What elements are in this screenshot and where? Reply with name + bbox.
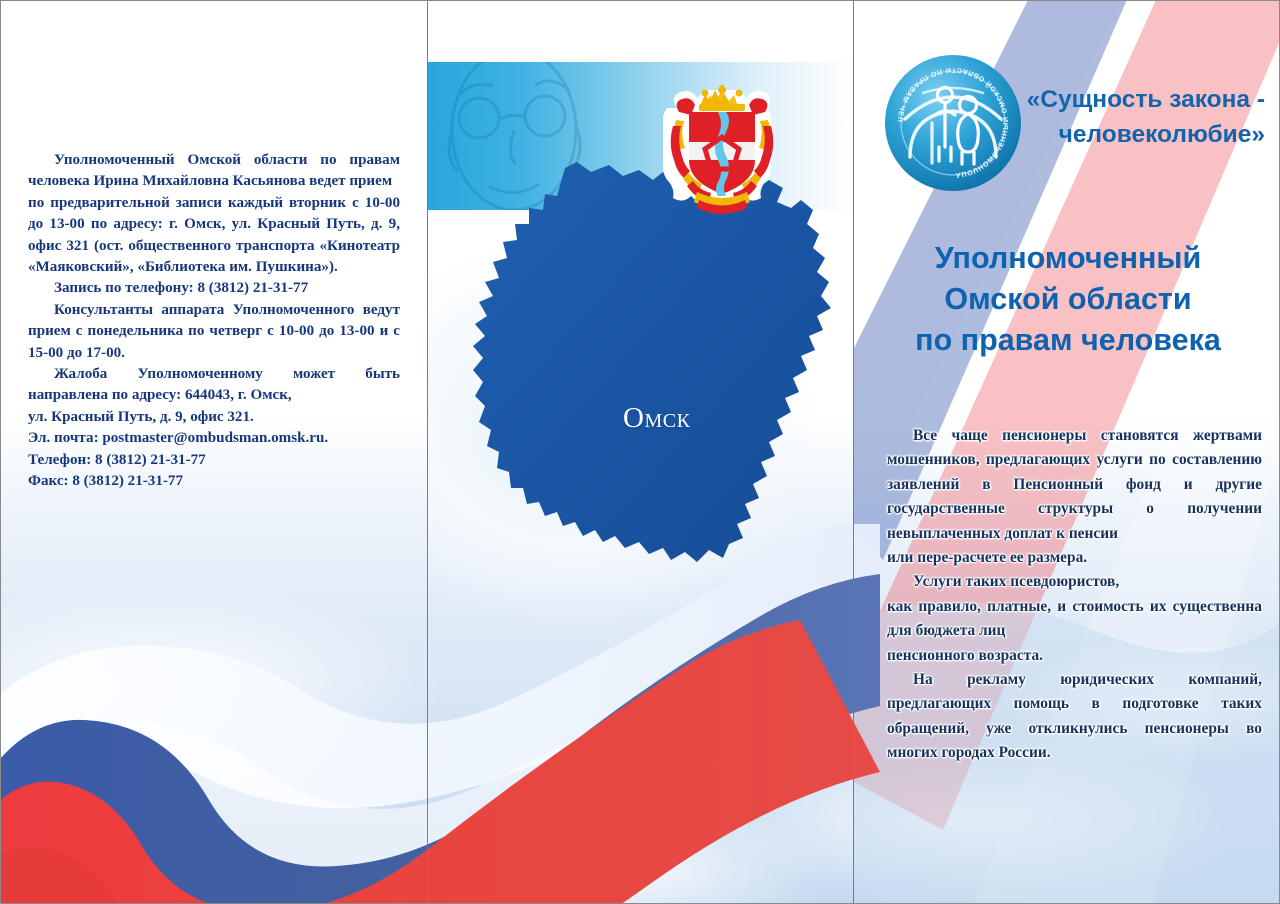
warning-text-block: Все чаще пенсионеры становятся жертвами … bbox=[887, 424, 1262, 766]
contact-paragraph: Уполномоченный Омской области по правам … bbox=[28, 150, 400, 193]
coat-of-arms bbox=[663, 82, 781, 224]
warning-paragraph: Услуги таких псевдоюристов, bbox=[887, 570, 1262, 594]
contact-paragraph: ул. Красный Путь, д. 9, офис 321. bbox=[28, 407, 400, 428]
brochure-page: Уполномоченный Омской области по правам … bbox=[0, 0, 1280, 904]
contact-paragraph: Жалоба Уполномоченному может быть направ… bbox=[28, 364, 400, 407]
contact-paragraph: Телефон: 8 (3812) 21-31-77 bbox=[28, 450, 400, 471]
page-edge-top bbox=[0, 0, 1280, 1]
contact-paragraph: Запись по телефону: 8 (3812) 21-31-77 bbox=[28, 278, 400, 299]
page-edge-left bbox=[0, 0, 1, 904]
warning-paragraph: На рекламу юридических компаний, предлаг… bbox=[887, 668, 1262, 766]
contact-text-block: Уполномоченный Омской области по правам … bbox=[28, 150, 400, 493]
contact-paragraph: Эл. почта: postmaster@ombudsman.omsk.ru. bbox=[28, 428, 400, 449]
russian-flag-graphic bbox=[0, 524, 880, 904]
contact-paragraph: Консультанты аппарата Уполномоченного ве… bbox=[28, 300, 400, 364]
brochure-title-line: Уполномоченный bbox=[863, 238, 1273, 279]
contact-paragraph: Факс: 8 (3812) 21-31-77 bbox=[28, 471, 400, 492]
map-city-label: Омск bbox=[623, 402, 690, 435]
warning-paragraph: или пере-расчете ее размера. bbox=[887, 546, 1262, 570]
fold-line-right bbox=[853, 0, 854, 904]
warning-paragraph: как правило, платные, и стоимость их сущ… bbox=[887, 595, 1262, 644]
contact-paragraph: по предварительной записи каждый вторник… bbox=[28, 193, 400, 279]
panel-right: УПОЛНОМОЧЕННЫЙ ОМСКОЙ ОБЛАСТИ ПО ПРАВАМ … bbox=[853, 0, 1280, 904]
fold-line-left bbox=[427, 0, 428, 904]
slogan-text: «Сущность закона - человеколюбие» bbox=[1025, 82, 1265, 152]
ombudsman-logo: УПОЛНОМОЧЕННЫЙ ОМСКОЙ ОБЛАСТИ ПО ПРАВАМ … bbox=[883, 53, 1023, 193]
omsk-oblast-map bbox=[457, 150, 847, 580]
brochure-title-line: Омской области bbox=[863, 279, 1273, 320]
warning-paragraph: пенсионного возраста. bbox=[887, 644, 1262, 668]
warning-paragraph: Все чаще пенсионеры становятся жертвами … bbox=[887, 424, 1262, 546]
brochure-title-line: по правам человека bbox=[863, 320, 1273, 361]
brochure-title: УполномоченныйОмской областипо правам че… bbox=[863, 238, 1273, 361]
